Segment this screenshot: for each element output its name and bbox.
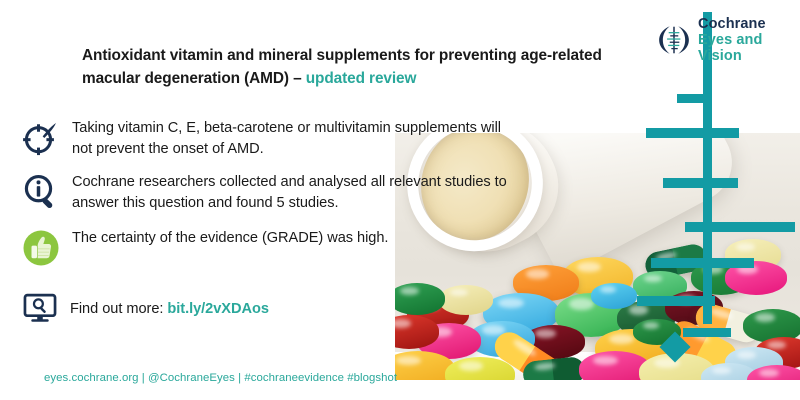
find-out-more-label: Find out more: [70,301,167,317]
magnifier-info-icon [21,172,61,217]
forest-bar-1 [646,128,739,138]
bullet-text-certainty: The certainty of the evidence (GRADE) wa… [72,228,388,249]
bullet-row-finding: Taking vitamin C, E, beta-carotene or mu… [21,118,521,163]
find-out-more-link[interactable]: bit.ly/2vXDAos [167,301,269,317]
find-out-more-row: Find out more: bit.ly/2vXDAos [21,288,401,331]
bullet-row-certainty: The certainty of the evidence (GRADE) wa… [21,228,421,273]
footer-credits: eyes.cochrane.org | @CochraneEyes | #coc… [44,372,397,384]
forest-bar-6 [683,328,731,337]
cochrane-eyes-and-vision-logo: Cochrane Eyes and Vision [657,16,800,65]
bullet-row-methods: Cochrane researchers collected and analy… [21,172,541,217]
forest-bar-5 [637,296,715,306]
logo-line-2: Eyes and Vision [698,32,800,64]
bullet-text-finding: Taking vitamin C, E, beta-carotene or mu… [72,118,521,159]
pill [439,285,493,315]
forest-bar-2 [663,178,738,188]
pill [395,283,445,315]
cochrane-logo-icon [657,23,691,57]
teal-forest-plot-graphic [655,56,800,336]
forest-bar-4 [651,258,754,268]
logo-line-1: Cochrane [698,16,800,32]
pill [591,283,637,309]
headline-accent: updated review [306,70,417,87]
thumbs-up-icon [21,228,61,273]
page-title: Antioxidant vitamin and mineral suppleme… [82,44,602,91]
target-crosshair-icon [21,118,61,163]
forest-bar-0 [677,94,703,103]
monitor-search-icon [21,288,59,331]
find-out-more-text: Find out more: bit.ly/2vXDAos [70,299,269,320]
bullet-text-methods: Cochrane researchers collected and analy… [72,172,541,213]
blogshot-card: Cochrane Eyes and Vision Antioxidant vit… [0,0,800,400]
logo-wordmark: Cochrane Eyes and Vision [698,16,800,65]
forest-bar-3 [685,222,795,232]
